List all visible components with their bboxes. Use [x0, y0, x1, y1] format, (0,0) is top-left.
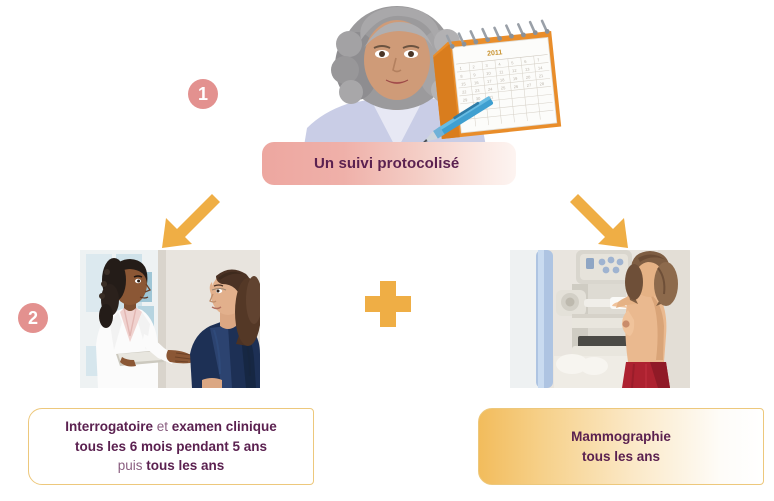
hero-photo-woman-calendar: 2011 [275, 0, 565, 152]
caption-right-line-1: Mammographie [571, 427, 671, 447]
caption-box-clinical-exam: Interrogatoire et examen clinique tous l… [28, 408, 314, 485]
step-badge-1-number: 1 [198, 85, 208, 103]
infographic-root: 2011 [0, 0, 774, 501]
step-badge-2: 2 [18, 303, 48, 333]
banner-title: Un suivi protocolisé [262, 155, 459, 172]
hero-photo-illustration: 2011 [275, 0, 565, 152]
plus-icon-vertical-bar [380, 281, 396, 327]
caption-box-mammography: Mammographie tous les ans [478, 408, 764, 485]
caption-right-text: Mammographie tous les ans [561, 427, 681, 466]
protocol-banner: Un suivi protocolisé [262, 142, 516, 185]
caption-left-line1-light: et [153, 419, 172, 434]
step-badge-1: 1 [188, 79, 218, 109]
arrow-down-left-icon [152, 190, 220, 257]
caption-left-line-3: puis tous les ans [65, 456, 277, 476]
consultation-illustration [80, 250, 260, 388]
caption-left-line-1: Interrogatoire et examen clinique [65, 417, 277, 437]
caption-left-line3-bold: tous les ans [146, 458, 224, 473]
caption-left-line1-bold: Interrogatoire [65, 419, 153, 434]
step-badge-2-number: 2 [28, 309, 38, 327]
mammography-illustration [510, 250, 690, 388]
caption-left-line3-light: puis [118, 458, 147, 473]
caption-right-line-2: tous les ans [571, 447, 671, 467]
photo-mammography [510, 250, 690, 388]
caption-left-text: Interrogatoire et examen clinique tous l… [55, 417, 287, 476]
caption-left-line1-bold2: examen clinique [172, 419, 277, 434]
arrow-down-right-icon [570, 190, 638, 257]
caption-left-line-2: tous les 6 mois pendant 5 ans [65, 437, 277, 457]
photo-clinical-consultation [80, 250, 260, 388]
plus-icon [365, 281, 411, 327]
